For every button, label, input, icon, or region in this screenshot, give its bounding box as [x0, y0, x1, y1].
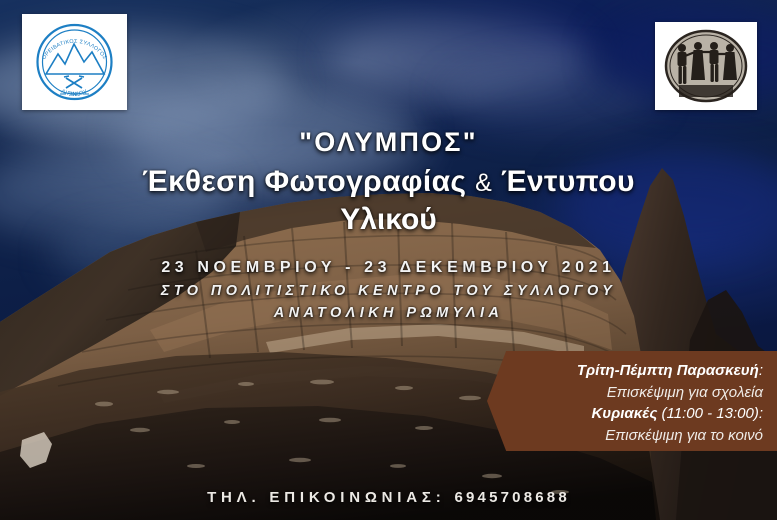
date-venue-block: 23 ΝΟΕΜΒΡΙΟΥ - 23 ΔΕΚΕΜΒΡΙΟΥ 2021 ΣΤΟ ΠΟ…	[0, 256, 777, 325]
logo-left-year: 2003	[69, 92, 80, 98]
hours-days-weekday: Τρίτη-Πέμπτη Παρασκευή	[577, 362, 759, 379]
hours-row-1-colon: :	[759, 362, 763, 379]
subtitle-part-a: Έκθεση Φωτογραφίας	[142, 165, 466, 198]
subtitle-line-2: Υλικού	[0, 201, 777, 239]
hours-row-3: Κυριακές (11:00 - 13:00):	[577, 403, 763, 425]
logo-left-text-top: ΟΡΕΙΒΑΤΙΚΟΣ ΣΥΛΛΟΓΟΣ	[41, 39, 108, 61]
hours-row-1: Τρίτη-Πέμπτη Παρασκευή:	[577, 360, 763, 382]
hours-sunday-time: (11:00 - 13:00):	[657, 405, 763, 422]
subtitle-line: Έκθεση Φωτογραφίας & Έντυπου	[0, 162, 777, 202]
page-title: "ΟΛΥΜΠΟΣ"	[0, 126, 777, 160]
dancers-logo-caption-block	[679, 85, 733, 97]
svg-text:ΟΡΕΙΒΑΤΙΚΟΣ ΣΥΛΛΟΓΟΣ: ΟΡΕΙΒΑΤΙΚΟΣ ΣΥΛΛΟΓΟΣ	[41, 39, 108, 61]
contact-phone-line: ΤΗΛ. ΕΠΙΚΟΙΝΩΝΙΑΣ: 6945708688	[0, 489, 777, 506]
venue-line-1: ΣΤΟ ΠΟΛΙΤΙΣΤΙΚΟ ΚΕΝΤΡΟ ΤΟΥ ΣΥΛΛΟΓΟΥ	[0, 280, 777, 302]
venue-line-2: ΑΝΑΤΟΛΙΚΗ ΡΩΜΥΛΙΑ	[0, 302, 777, 324]
phone-number: 6945708688	[454, 489, 569, 506]
opening-hours-banner: Τρίτη-Πέμπτη Παρασκευή: Επισκέψιμη για σ…	[487, 351, 777, 451]
hours-row-2: Επισκέψιμη για σχολεία	[577, 382, 763, 404]
hours-days-sunday: Κυριακές	[591, 405, 657, 422]
opening-hours-text: Τρίτη-Πέμπτη Παρασκευή: Επισκέψιμη για σ…	[577, 360, 763, 446]
phone-label: ΤΗΛ. ΕΠΙΚΟΙΝΩΝΙΑΣ:	[207, 489, 445, 506]
subtitle-part-b: Έντυπου	[501, 165, 635, 198]
exhibition-dates: 23 ΝΟΕΜΒΡΙΟΥ - 23 ΔΕΚΕΜΒΡΙΟΥ 2021	[0, 256, 777, 280]
subtitle-ampersand: &	[475, 169, 492, 197]
hours-row-4: Επισκέψιμη για το κοινό	[577, 425, 763, 447]
logo-oreivatikos-syllogos-aiginiou: ΟΡΕΙΒΑΤΙΚΟΣ ΣΥΛΛΟΓΟΣ ΑΙΓΙΝΙΟΥ 2003	[22, 14, 127, 110]
poster-canvas: ΟΡΕΙΒΑΤΙΚΟΣ ΣΥΛΛΟΓΟΣ ΑΙΓΙΝΙΟΥ 2003	[0, 0, 777, 520]
logo-politistikos-syllogos-dancers	[655, 22, 757, 110]
poster-title-block: "ΟΛΥΜΠΟΣ" Έκθεση Φωτογραφίας & Έντυπου Υ…	[0, 126, 777, 239]
